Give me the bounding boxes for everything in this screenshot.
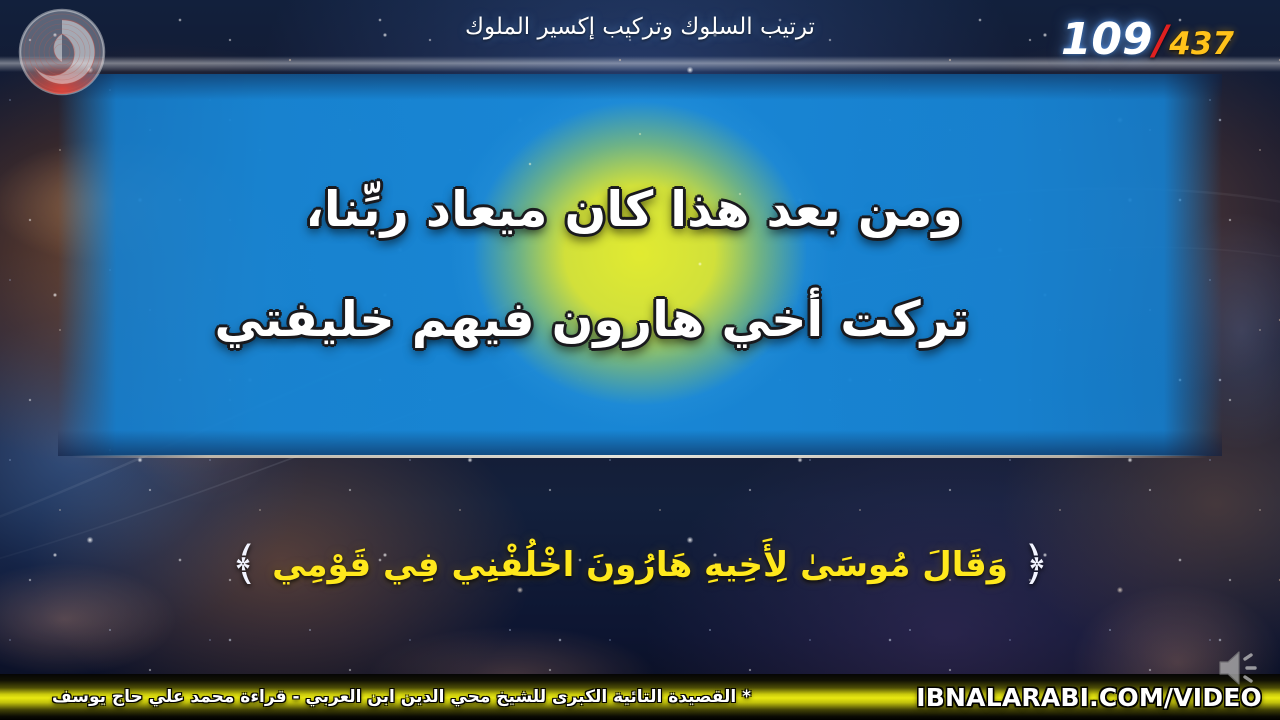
verse-text: وَقَالَ مُوسَىٰ لِأَخِيهِ هَارُونَ اخْلُ…	[272, 545, 1008, 585]
ibn-arabi-spiral-logo-icon	[8, 8, 116, 100]
verse-open-bracket-icon: ﴿	[1022, 540, 1049, 586]
poem-line-1: ومن بعد هذا كان ميعاد ربِّنا،	[305, 182, 963, 238]
credit-label: * القصيدة التائية الكبرى للشيخ محي الدين…	[18, 687, 751, 707]
section-divider	[72, 455, 1208, 458]
counter-total-pages: 437	[1169, 29, 1234, 60]
poem-text-block: ومن بعد هذا كان ميعاد ربِّنا، تركت أخي ه…	[58, 74, 1222, 456]
counter-separator: /	[1154, 21, 1169, 61]
site-url-label[interactable]: IBNALARABI.COM/VIDEO	[916, 683, 1262, 712]
verse-close-bracket-icon: ﴾	[231, 540, 258, 586]
counter-current-page: 109	[1061, 18, 1153, 62]
quran-verse-block: ﴿ وَقَالَ مُوسَىٰ لِأَخِيهِ هَارُونَ اخْ…	[0, 470, 1280, 660]
video-slide: ومن بعد هذا كان ميعاد ربِّنا، تركت أخي ه…	[0, 0, 1280, 720]
page-counter: 109 / 437	[1061, 18, 1234, 62]
poem-line-2: تركت أخي هارون فيهم خليفتي	[214, 292, 969, 348]
footer-bar: IBNALARABI.COM/VIDEO * القصيدة التائية ا…	[0, 674, 1280, 720]
speaker-volume-icon[interactable]	[1214, 646, 1266, 690]
quran-verse: ﴿ وَقَالَ مُوسَىٰ لِأَخِيهِ هَارُونَ اخْ…	[231, 542, 1049, 588]
